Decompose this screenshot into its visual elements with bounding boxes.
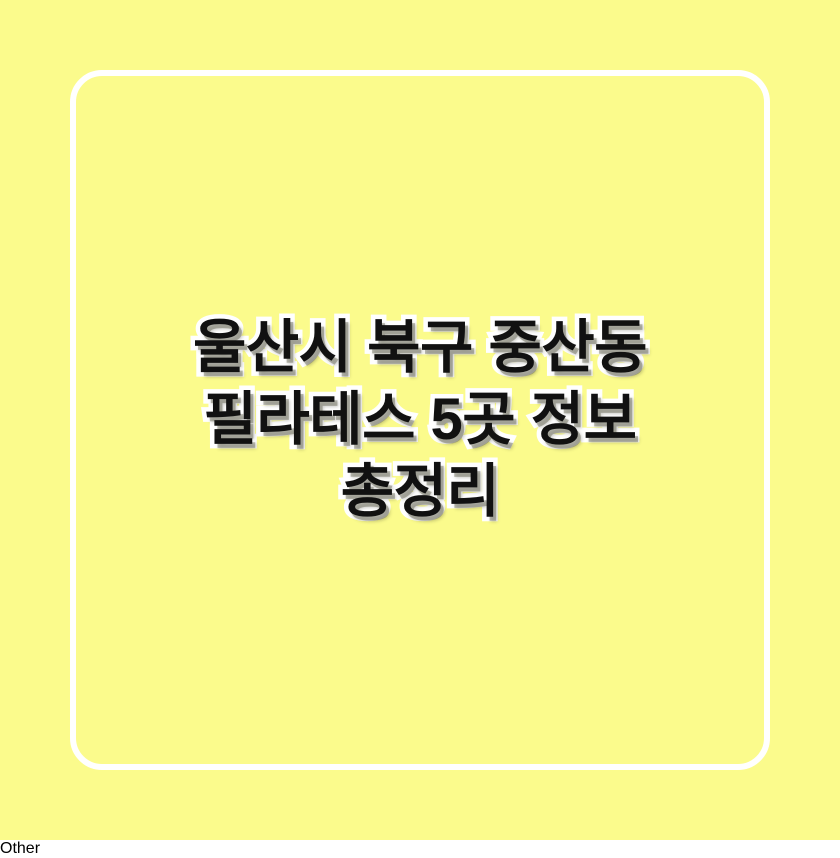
thumbnail-card: 울산시 북구 중산동 필라테스 5곳 정보 총정리 (0, 0, 840, 840)
headline-line-3: 총정리 (341, 456, 500, 528)
headline-line-1: 울산시 북구 중산동 (193, 312, 647, 384)
headline-line-2: 필라테스 5곳 정보 (203, 384, 636, 456)
headline-text-block: 울산시 북구 중산동 필라테스 5곳 정보 총정리 (0, 0, 840, 840)
